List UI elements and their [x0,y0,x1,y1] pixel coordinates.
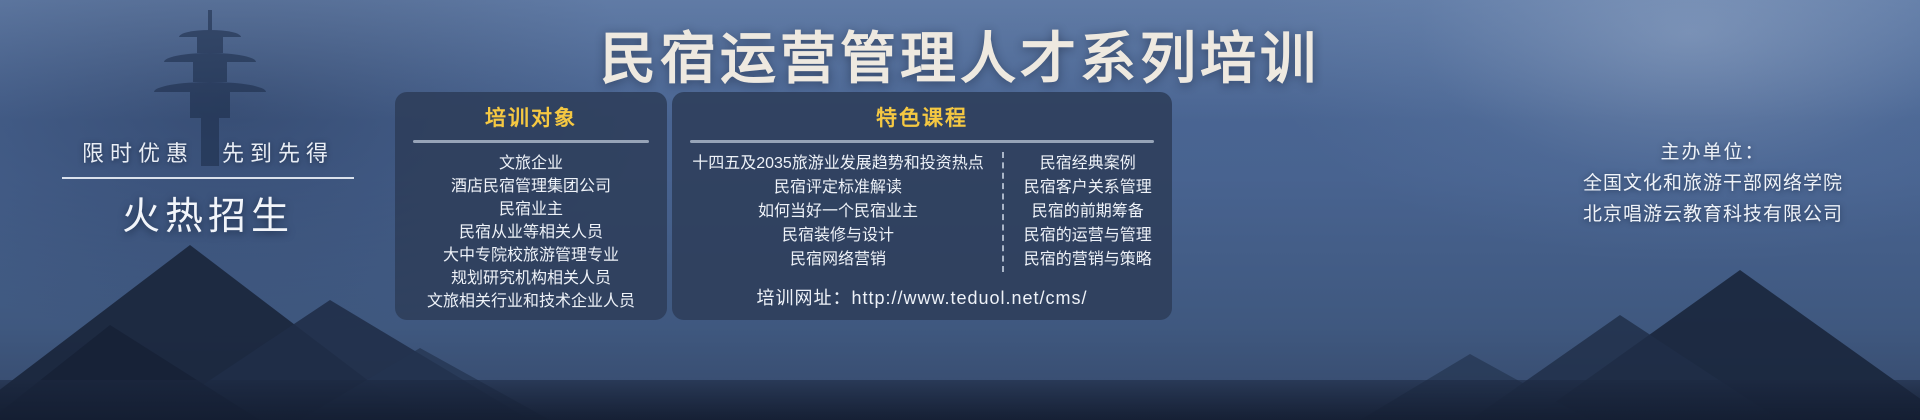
card-divider [413,140,649,143]
sponsor-block: 主办单位： 全国文化和旅游干部网络学院 北京唱游云教育科技有限公司 [1548,138,1878,230]
promo-headline: 火热招生 [58,185,358,240]
list-item: 民宿评定标准解读 [692,176,984,200]
card-featured-courses: 特色课程 十四五及2035旅游业发展趋势和投资热点 民宿评定标准解读 如何当好一… [672,92,1172,320]
list-item: 民宿业主 [413,198,649,221]
promo-block: 限时优惠 先到先得 火热招生 [58,136,358,240]
banner-content: 民宿运营管理人才系列培训 限时优惠 先到先得 火热招生 培训对象 文旅企业 酒店… [0,0,1920,420]
card-title-audience: 培训对象 [413,102,649,134]
training-website-link[interactable]: 培训网址：http://www.teduol.net/cms/ [690,284,1154,310]
list-item: 民宿客户关系管理 [1024,176,1152,200]
card-title-courses: 特色课程 [690,102,1154,134]
list-item: 文旅相关行业和技术企业人员 [413,290,649,313]
list-item: 民宿网络营销 [692,248,984,272]
sponsor-organization: 全国文化和旅游干部网络学院 [1548,168,1878,199]
promo-divider [62,177,354,179]
list-item: 民宿从业等相关人员 [413,221,649,244]
card-divider [690,140,1154,143]
page-title: 民宿运营管理人才系列培训 [0,14,1920,95]
courses-right-list: 民宿经典案例 民宿客户关系管理 民宿的前期筹备 民宿的运营与管理 民宿的营销与策… [1002,152,1152,272]
list-item: 民宿的运营与管理 [1024,224,1152,248]
courses-left-list: 十四五及2035旅游业发展趋势和投资热点 民宿评定标准解读 如何当好一个民宿业主… [692,152,1002,272]
list-item: 民宿经典案例 [1024,152,1152,176]
list-item: 如何当好一个民宿业主 [692,200,984,224]
list-item: 文旅企业 [413,152,649,175]
sponsor-label: 主办单位： [1548,138,1878,168]
audience-list: 文旅企业 酒店民宿管理集团公司 民宿业主 民宿从业等相关人员 大中专院校旅游管理… [413,152,649,313]
list-item: 民宿的营销与策略 [1024,248,1152,272]
list-item: 规划研究机构相关人员 [413,267,649,290]
sponsor-organization: 北京唱游云教育科技有限公司 [1548,199,1878,230]
list-item: 十四五及2035旅游业发展趋势和投资热点 [692,152,984,176]
list-item: 民宿的前期筹备 [1024,200,1152,224]
promo-tagline: 限时优惠 先到先得 [58,136,358,168]
list-item: 民宿装修与设计 [692,224,984,248]
card-training-audience: 培训对象 文旅企业 酒店民宿管理集团公司 民宿业主 民宿从业等相关人员 大中专院… [395,92,667,320]
courses-columns: 十四五及2035旅游业发展趋势和投资热点 民宿评定标准解读 如何当好一个民宿业主… [690,152,1154,272]
list-item: 大中专院校旅游管理专业 [413,244,649,267]
list-item: 酒店民宿管理集团公司 [413,175,649,198]
